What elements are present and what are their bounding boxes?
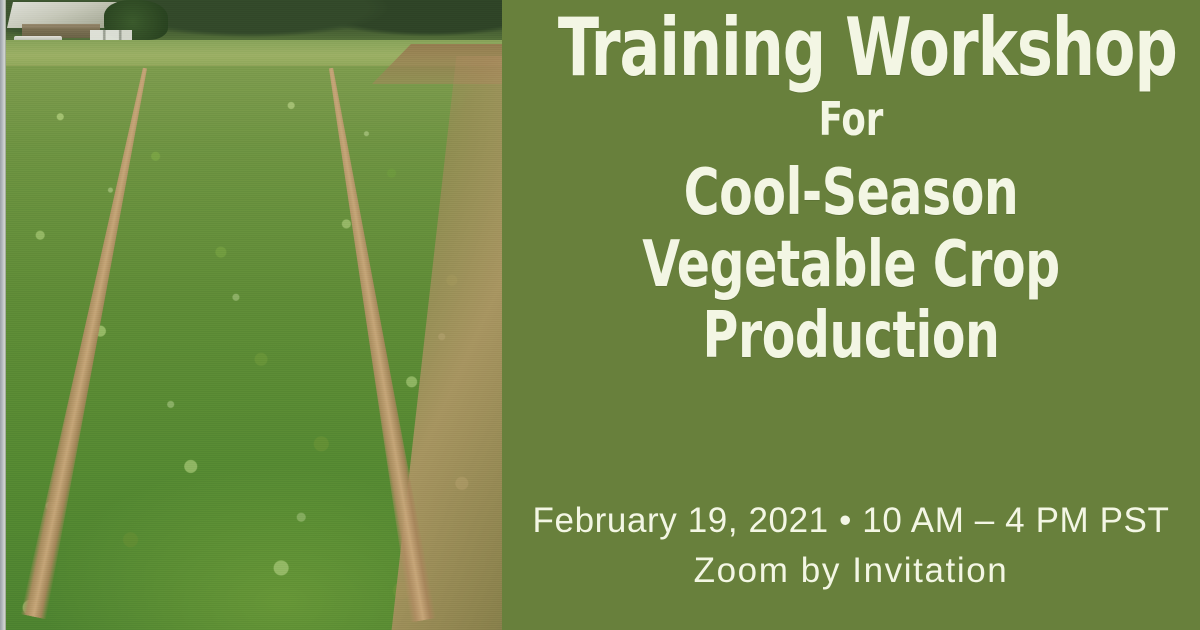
event-access-method: Zoom by Invitation	[502, 546, 1200, 596]
subject-block: Cool-Season Vegetable Crop Production	[502, 158, 1200, 373]
subject-line-1: Cool-Season	[554, 158, 1147, 230]
subject-line-3: Production	[554, 301, 1147, 373]
subject-line-2: Vegetable Crop	[554, 230, 1147, 302]
field-photograph	[0, 0, 502, 630]
title-connector: For	[551, 96, 1151, 142]
announcement-panel: Training Workshop For Cool-Season Vegeta…	[502, 0, 1200, 630]
photo-left-border	[0, 0, 6, 630]
details-block: February 19, 2021 • 10 AM – 4 PM PST Zoo…	[502, 496, 1200, 595]
headline-block: Training Workshop For Cool-Season Vegeta…	[502, 8, 1200, 373]
event-title: Training Workshop	[558, 8, 1144, 88]
event-promo-banner: Training Workshop For Cool-Season Vegeta…	[0, 0, 1200, 630]
event-date-time: February 19, 2021 • 10 AM – 4 PM PST	[502, 496, 1200, 546]
